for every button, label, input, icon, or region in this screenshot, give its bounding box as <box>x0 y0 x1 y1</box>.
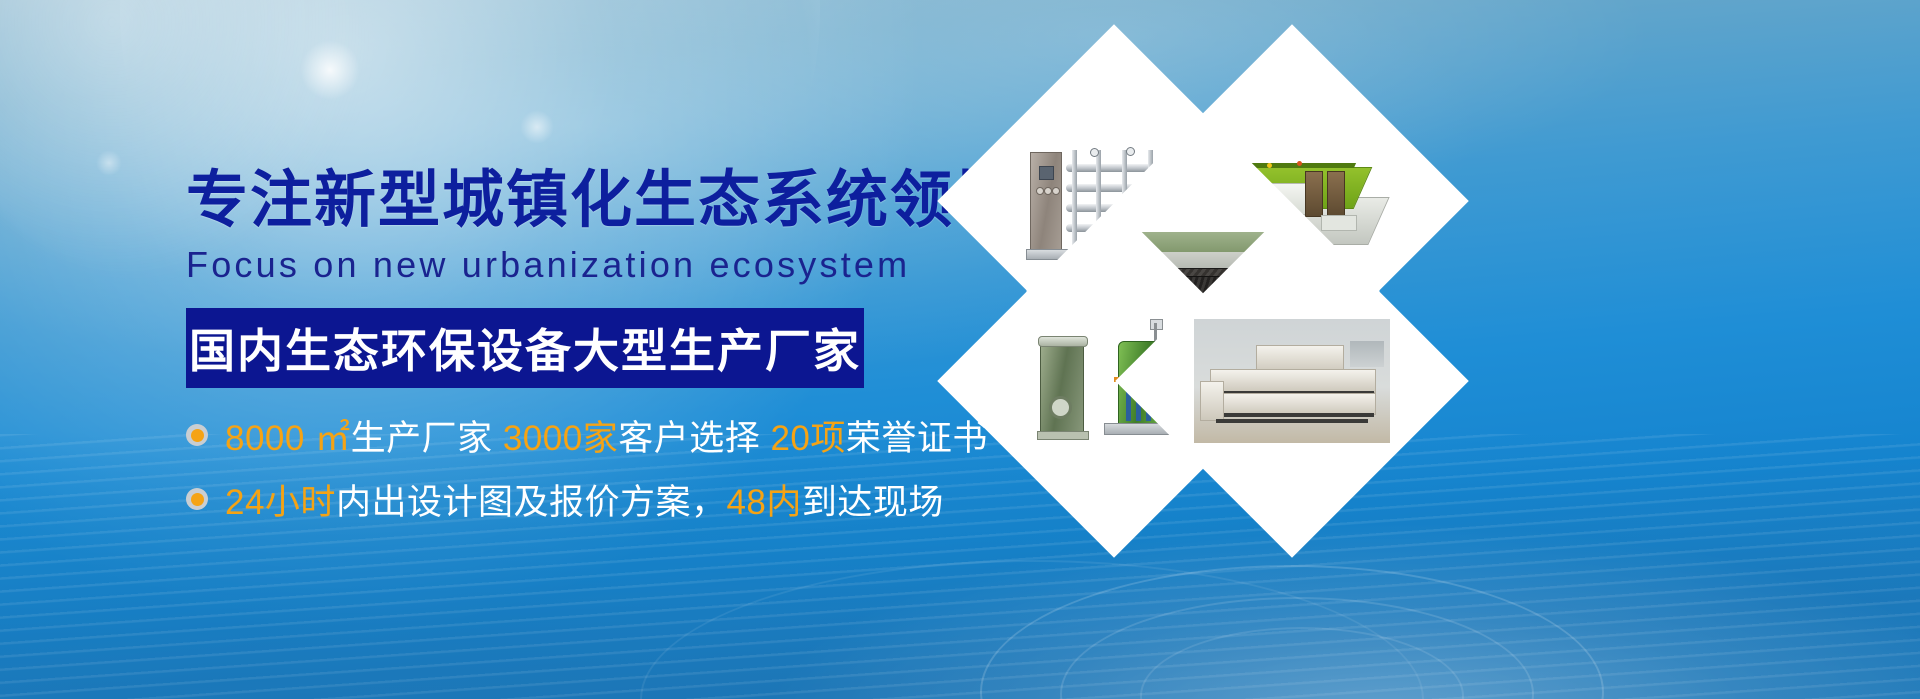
bullet-accent-text: 48内 <box>726 483 801 522</box>
wall-panels-image <box>1194 319 1390 443</box>
light-fleck-icon <box>520 110 554 144</box>
bullet-text: 24小时内出设计图及报价方案，48内到达现场 <box>225 474 944 525</box>
bullet-dot-icon <box>186 488 208 510</box>
hero-banner: 专注新型城镇化生态系统领域 Focus on new urbanization … <box>0 0 1920 699</box>
ripple-ring <box>1140 627 1464 699</box>
bullet-accent-text: 8000 ㎡ <box>225 419 351 458</box>
ripple-ring <box>1060 597 1534 699</box>
list-item: 24小时内出设计图及报价方案，48内到达现场 <box>186 474 886 525</box>
highlight-box-text: 国内生态环保设备大型生产厂家 <box>189 315 861 381</box>
bullet-plain-text: 客户选择 <box>618 419 770 458</box>
bullet-accent-text: 20项 <box>770 419 845 458</box>
product-diamond-grid <box>905 48 1705 588</box>
bullet-plain-text: 内出设计图及报价方案， <box>336 483 727 522</box>
bullet-dot-icon <box>186 424 208 446</box>
light-fleck-icon <box>96 150 122 176</box>
subheadline: Focus on new urbanization ecosystem <box>186 244 886 286</box>
bullet-list: 8000 ㎡生产厂家 3000家客户选择 20项荣誉证书 24小时内出设计图及报… <box>186 410 886 525</box>
list-item: 8000 ㎡生产厂家 3000家客户选择 20项荣誉证书 <box>186 410 886 461</box>
bullet-accent-text: 24小时 <box>225 483 336 522</box>
bullet-plain-text: 生产厂家 <box>351 419 503 458</box>
highlight-box: 国内生态环保设备大型生产厂家 <box>186 308 864 388</box>
light-fleck-icon <box>300 40 360 100</box>
bullet-text: 8000 ㎡生产厂家 3000家客户选择 20项荣誉证书 <box>225 410 988 461</box>
banner-copy: 专注新型城镇化生态系统领域 Focus on new urbanization … <box>186 168 886 538</box>
bullet-accent-text: 3000家 <box>503 419 618 458</box>
headline: 专注新型城镇化生态系统领域 <box>186 168 886 234</box>
